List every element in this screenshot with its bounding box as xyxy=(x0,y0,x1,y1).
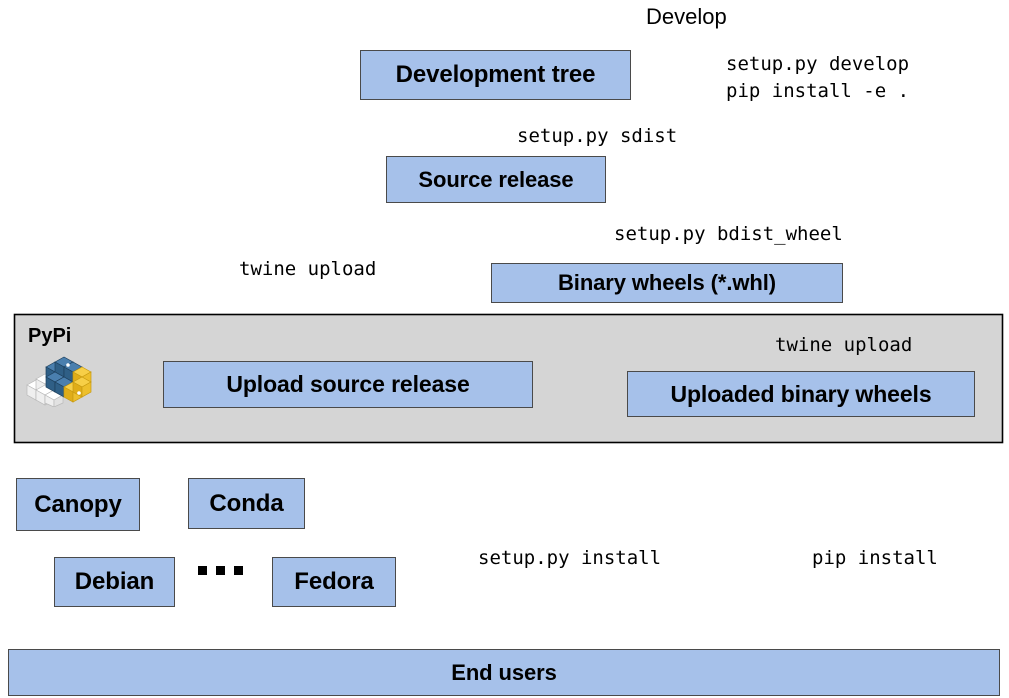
label-setup-py-install: setup.py install xyxy=(478,545,661,572)
pypi-region-label: PyPi xyxy=(28,325,71,348)
node-end-users[interactable]: End users xyxy=(8,649,1000,696)
label-develop-commands: setup.py develop pip install -e . xyxy=(726,51,909,105)
pypi-python-cubes-logo xyxy=(24,355,94,407)
ellipsis-dot xyxy=(216,566,225,575)
label-setup-py-bdist-wheel: setup.py bdist_wheel xyxy=(614,221,843,248)
node-uploaded-binary-wheels[interactable]: Uploaded binary wheels xyxy=(627,371,975,417)
node-fedora[interactable]: Fedora xyxy=(272,557,396,607)
node-conda[interactable]: Conda xyxy=(188,478,305,529)
node-upload-source-release[interactable]: Upload source release xyxy=(163,361,533,408)
label-twine-upload-wheels: twine upload xyxy=(775,332,912,359)
label-develop: Develop xyxy=(646,4,727,30)
ellipsis-indicator xyxy=(198,566,243,575)
node-canopy[interactable]: Canopy xyxy=(16,478,140,531)
label-pip-install: pip install xyxy=(812,545,938,572)
node-source-release[interactable]: Source release xyxy=(386,156,606,203)
diagram-canvas: PyPi xyxy=(0,0,1009,698)
node-debian[interactable]: Debian xyxy=(54,557,175,607)
node-development-tree[interactable]: Development tree xyxy=(360,50,631,100)
node-binary-wheels[interactable]: Binary wheels (*.whl) xyxy=(491,263,843,303)
ellipsis-dot xyxy=(234,566,243,575)
label-twine-upload-source: twine upload xyxy=(239,256,376,283)
label-setup-py-sdist: setup.py sdist xyxy=(517,123,677,150)
ellipsis-dot xyxy=(198,566,207,575)
